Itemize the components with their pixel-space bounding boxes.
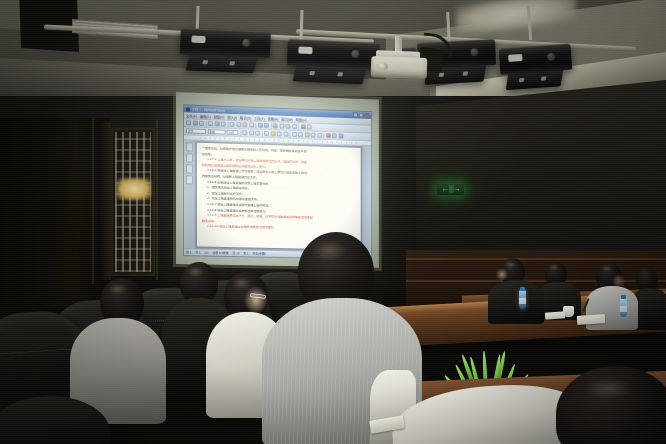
menu-item-help[interactable]: 帮助(H) [296,117,307,122]
document-thumbnail-pane[interactable] [184,140,196,248]
exit-sign-glyph: ← ░ → [442,186,460,193]
spellcheck-icon[interactable] [221,122,226,127]
insert-table-icon[interactable] [279,124,284,129]
maximize-button[interactable] [359,113,364,118]
decorative-lattice-screen [111,128,155,276]
track-light-2 [286,39,380,85]
doc-line: 3.10.10 建设工程监理应与相关法规进行同时维护。 [202,225,356,232]
minimize-button[interactable] [353,113,358,118]
format-painter-icon[interactable] [249,123,254,128]
paste-icon[interactable] [242,122,247,127]
projector-body [371,56,428,79]
cut-icon[interactable] [230,122,235,127]
notepad-1 [577,314,606,325]
status-section: 节 1 [195,250,200,254]
torso [488,280,544,324]
drawing-icon[interactable] [285,124,290,129]
print-preview-icon[interactable] [214,121,219,126]
redo-icon[interactable] [264,123,269,128]
new-document-icon[interactable] [186,120,191,125]
attendee-table-left [488,258,544,322]
lattice-pattern [115,132,151,272]
window-controls[interactable] [353,113,369,118]
lattice-frame [98,122,111,280]
align-left-icon[interactable] [264,131,269,136]
attendee-foreground-head [556,366,666,444]
track-light-4 [499,44,574,91]
bulleted-list-icon[interactable] [304,132,309,137]
thumbnail-page-3[interactable] [186,164,193,173]
align-right-icon[interactable] [277,131,282,136]
menu-item-insert[interactable]: 插入(I) [227,114,237,119]
status-column: 列 1 [243,251,248,255]
conference-room-scene: ← ░ → 文档 1 - Microsoft Word 文件(F) [0,0,666,444]
water-bottle-2 [620,298,627,317]
undo-icon[interactable] [258,123,263,128]
line-spacing-icon[interactable] [292,132,297,137]
highlight-icon[interactable] [332,133,337,138]
menu-item-table[interactable]: 表格(A) [268,116,279,121]
numbered-list-icon[interactable] [298,132,303,137]
word-app-icon [186,107,190,111]
menu-item-window[interactable]: 窗口(W) [281,116,293,121]
emergency-exit-sign: ← ░ → [437,184,464,195]
status-page-count: 1/3 [204,251,208,255]
decrease-indent-icon[interactable] [311,133,316,138]
bold-icon[interactable] [242,130,247,135]
menu-item-file[interactable]: 文件(F) [186,113,197,118]
lattice-backlight [117,178,151,200]
projector-pole [395,36,402,52]
style-combo[interactable]: 正文 [186,128,206,134]
menu-item-format[interactable]: 格式(O) [240,115,251,120]
borders-icon[interactable] [338,133,343,138]
font-size-combo[interactable]: 小四 [227,130,239,135]
copy-icon[interactable] [236,122,241,127]
font-combo[interactable]: 宋体 [207,129,225,135]
print-icon[interactable] [208,121,213,126]
head [556,366,666,444]
chair-back [0,396,110,444]
save-icon[interactable] [199,121,204,126]
underline-icon[interactable] [255,131,260,136]
menu-item-tools[interactable]: 工具(T) [254,115,265,120]
ceiling-projector [371,48,427,82]
menu-item-view[interactable]: 视图(V) [214,114,225,119]
wall-panel-seam-1 [156,120,158,280]
font-color-icon[interactable] [326,133,331,138]
zoom-icon[interactable] [300,124,305,129]
wall-panel-seam-2 [92,118,94,284]
thumbnail-page-2[interactable] [186,153,193,162]
thumbnail-page-4[interactable] [186,175,193,184]
status-page: 页 1 [186,250,191,254]
increase-indent-icon[interactable] [317,133,322,138]
open-file-icon[interactable] [192,121,197,126]
thumbnail-page-1[interactable] [186,142,193,151]
foreground-chair-back [0,396,110,444]
menu-item-edit[interactable]: 编辑(E) [200,113,211,118]
track-light-1 [179,28,271,74]
help-icon[interactable] [307,125,312,130]
italic-icon[interactable] [249,130,254,135]
close-button[interactable] [365,113,370,118]
status-position: 位置 8.4厘米 [212,251,228,255]
justify-icon[interactable] [283,132,288,137]
water-bottle-1 [519,290,526,309]
show-formatting-icon[interactable] [292,124,297,129]
notepad-2 [545,311,565,319]
insert-hyperlink-icon[interactable] [273,123,278,128]
status-line: 行 12 [233,251,240,255]
align-center-icon[interactable] [270,131,275,136]
projector-lens-icon [377,62,388,70]
